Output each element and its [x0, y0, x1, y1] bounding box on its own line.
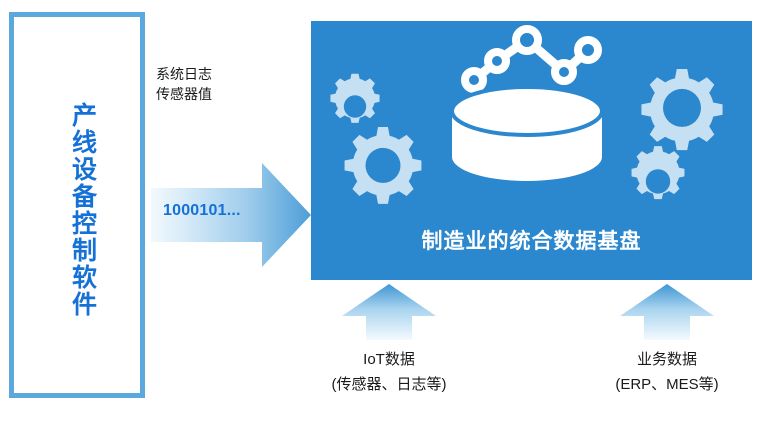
gear-small-left-icon	[330, 74, 379, 123]
up-arrow-iot-icon	[341, 283, 437, 341]
data-flow-arrow-label: 1000101...	[163, 202, 241, 220]
up-arrow-business-icon	[619, 283, 715, 341]
gear-large-right-icon	[641, 69, 722, 150]
flow-caption-line-1: 系统日志	[156, 64, 276, 84]
flow-caption: 系统日志 传感器值	[156, 64, 276, 105]
database-cylinder-icon	[452, 87, 602, 181]
gear-small-right-icon	[632, 146, 685, 199]
input-caption-iot-line-2: (传感器、日志等)	[239, 373, 539, 398]
platform-title: 制造业的统合数据基盘	[311, 225, 752, 255]
input-caption-business: 业务数据 (ERP、MES等)	[517, 348, 759, 398]
input-caption-business-line-2: (ERP、MES等)	[517, 373, 759, 398]
diagram-canvas: 产线设备控制软件 系统日志 传感器值 1000101...	[0, 0, 759, 430]
platform-panel: 制造业的统合数据基盘	[311, 21, 752, 280]
line-chart-icon	[465, 29, 598, 89]
gear-large-left-icon	[345, 127, 422, 204]
input-caption-iot-line-1: IoT数据	[363, 351, 415, 368]
input-caption-iot: IoT数据 (传感器、日志等)	[239, 348, 539, 398]
input-caption-business-line-1: 业务数据	[637, 351, 697, 368]
source-system-box: 产线设备控制软件	[9, 12, 145, 398]
flow-caption-line-2: 传感器值	[156, 84, 276, 104]
source-system-label: 产线设备控制软件	[14, 17, 150, 403]
